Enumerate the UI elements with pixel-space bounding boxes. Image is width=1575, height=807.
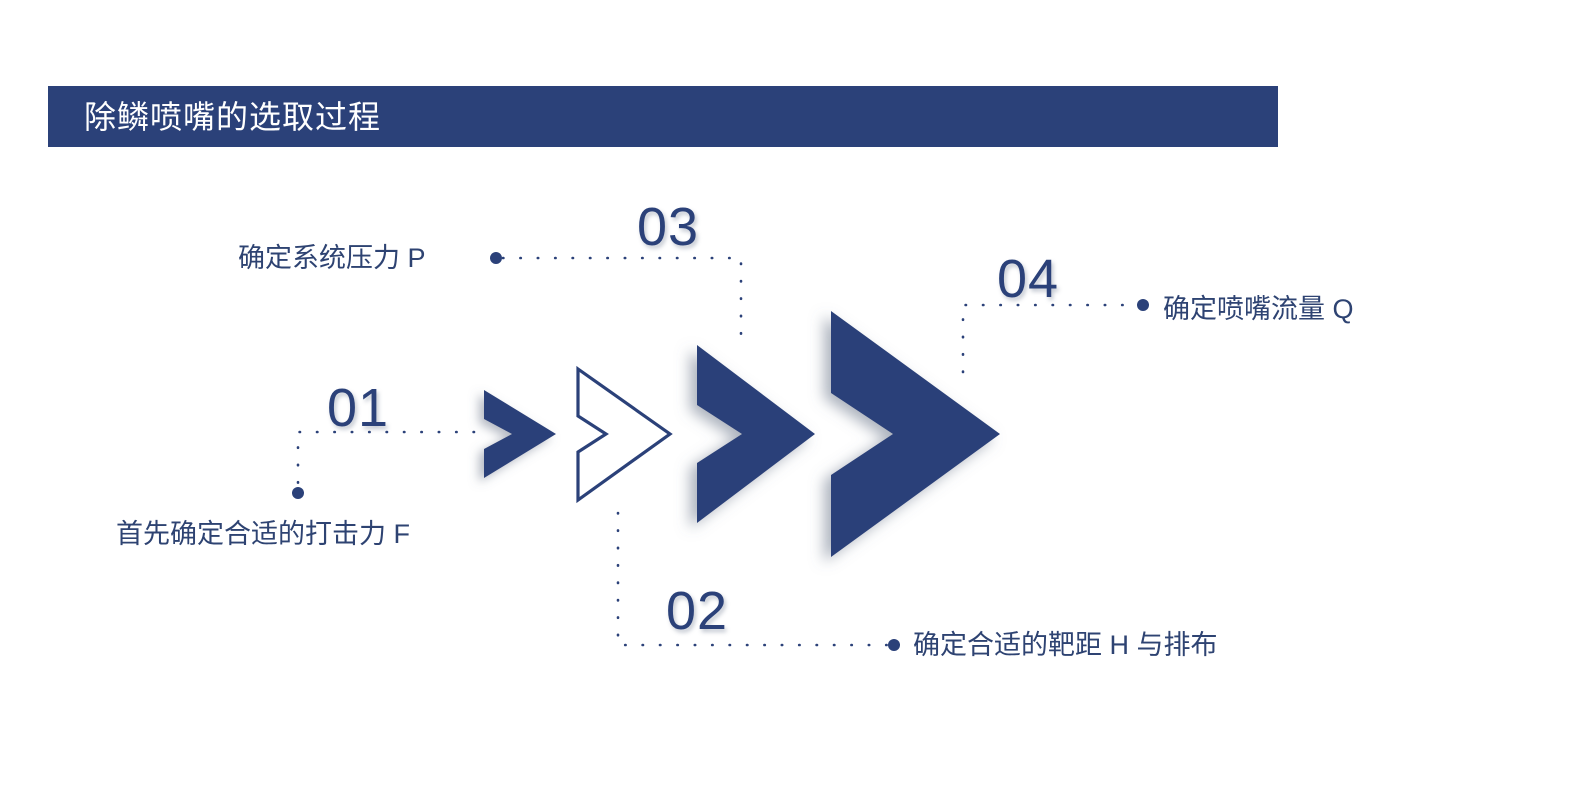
step-number-03: 03 <box>637 200 699 254</box>
connector-dot-step-02 <box>888 639 900 651</box>
chevron-right-icon-step-02 <box>578 369 670 500</box>
chevron-right-icon-step-04 <box>831 311 1000 557</box>
step-label-02: 确定合适的靶距 H 与排布 <box>913 629 1218 661</box>
chevron-right-icon-step-01 <box>484 390 556 478</box>
step-number-04: 04 <box>997 252 1059 306</box>
step-number-01: 01 <box>327 381 389 435</box>
connector-dot-step-03 <box>490 252 502 264</box>
dotted-connector-line-step-04 <box>963 305 1137 372</box>
step-label-03: 确定系统压力 P <box>238 242 426 274</box>
step-label-04: 确定喷嘴流量 Q <box>1163 293 1354 325</box>
step-number-02: 02 <box>666 584 728 638</box>
step-label-01: 首先确定合适的打击力 F <box>116 518 410 550</box>
connector-dot-step-01 <box>292 487 304 499</box>
connector-dot-step-04 <box>1137 299 1149 311</box>
dotted-connector-line-step-01 <box>298 432 474 489</box>
dotted-connector-line-step-02 <box>618 513 888 645</box>
dotted-connector-line-step-03 <box>503 258 741 345</box>
chevron-right-icon-step-03 <box>697 345 815 523</box>
page-title: 除鳞喷嘴的选取过程 <box>84 97 381 137</box>
